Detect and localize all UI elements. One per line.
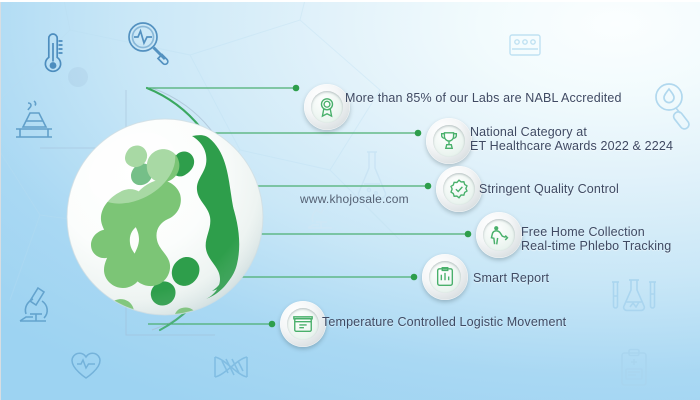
feature-badge-stringent-quality-control[interactable] xyxy=(436,166,482,212)
feature-badge-national-category-award[interactable] xyxy=(426,118,472,164)
feature-label-temperature-controlled-logistics: Temperature Controlled Logistic Movement xyxy=(322,315,566,330)
phlebo-tracking-icon xyxy=(483,219,515,251)
test-tube-flask-icon xyxy=(608,278,660,318)
feature-label-smart-report: Smart Report xyxy=(473,271,549,286)
feature-label-national-category-award: National Category at ET Healthcare Award… xyxy=(470,125,673,153)
thermometer-icon xyxy=(38,27,68,77)
image-top-edge xyxy=(0,0,700,2)
microplate-icon xyxy=(508,32,542,58)
microscope-left-icon xyxy=(16,283,58,329)
watermark-text: www.khojosale.com xyxy=(300,192,409,206)
feature-badge-temperature-controlled-logistics[interactable] xyxy=(280,301,326,347)
clipboard-report-icon xyxy=(618,348,650,388)
feature-label-stringent-quality-control: Stringent Quality Control xyxy=(479,182,619,197)
feature-badge-free-home-collection[interactable] xyxy=(476,212,522,258)
feature-label-line-2: ET Healthcare Awards 2022 & 2224 xyxy=(470,139,673,153)
feature-label-line-1: National Category at xyxy=(470,125,673,139)
temperature-box-icon xyxy=(287,308,319,340)
feature-badge-nabl-accredited[interactable] xyxy=(304,84,350,130)
certificate-badge-icon xyxy=(311,91,343,123)
smart-report-icon xyxy=(429,261,461,293)
feature-label-line-1: Free Home Collection xyxy=(521,225,671,239)
ecg-magnifier-icon xyxy=(124,18,172,66)
infographic-canvas: More than 85% of our Labs are NABL Accre… xyxy=(0,0,700,400)
feature-label-nabl-accredited: More than 85% of our Labs are NABL Accre… xyxy=(345,91,622,106)
feature-label-line-2: Real-time Phlebo Tracking xyxy=(521,239,671,253)
globe-graphic xyxy=(60,112,270,322)
heart-ecg-icon xyxy=(68,348,104,382)
lab-bench-icon xyxy=(10,95,58,145)
dna-helix-icon xyxy=(210,352,252,382)
feature-badge-smart-report[interactable] xyxy=(422,254,468,300)
award-trophy-icon xyxy=(433,125,465,157)
feature-label-free-home-collection: Free Home Collection Real-time Phlebo Tr… xyxy=(521,225,671,253)
quality-seal-check-icon xyxy=(443,173,475,205)
